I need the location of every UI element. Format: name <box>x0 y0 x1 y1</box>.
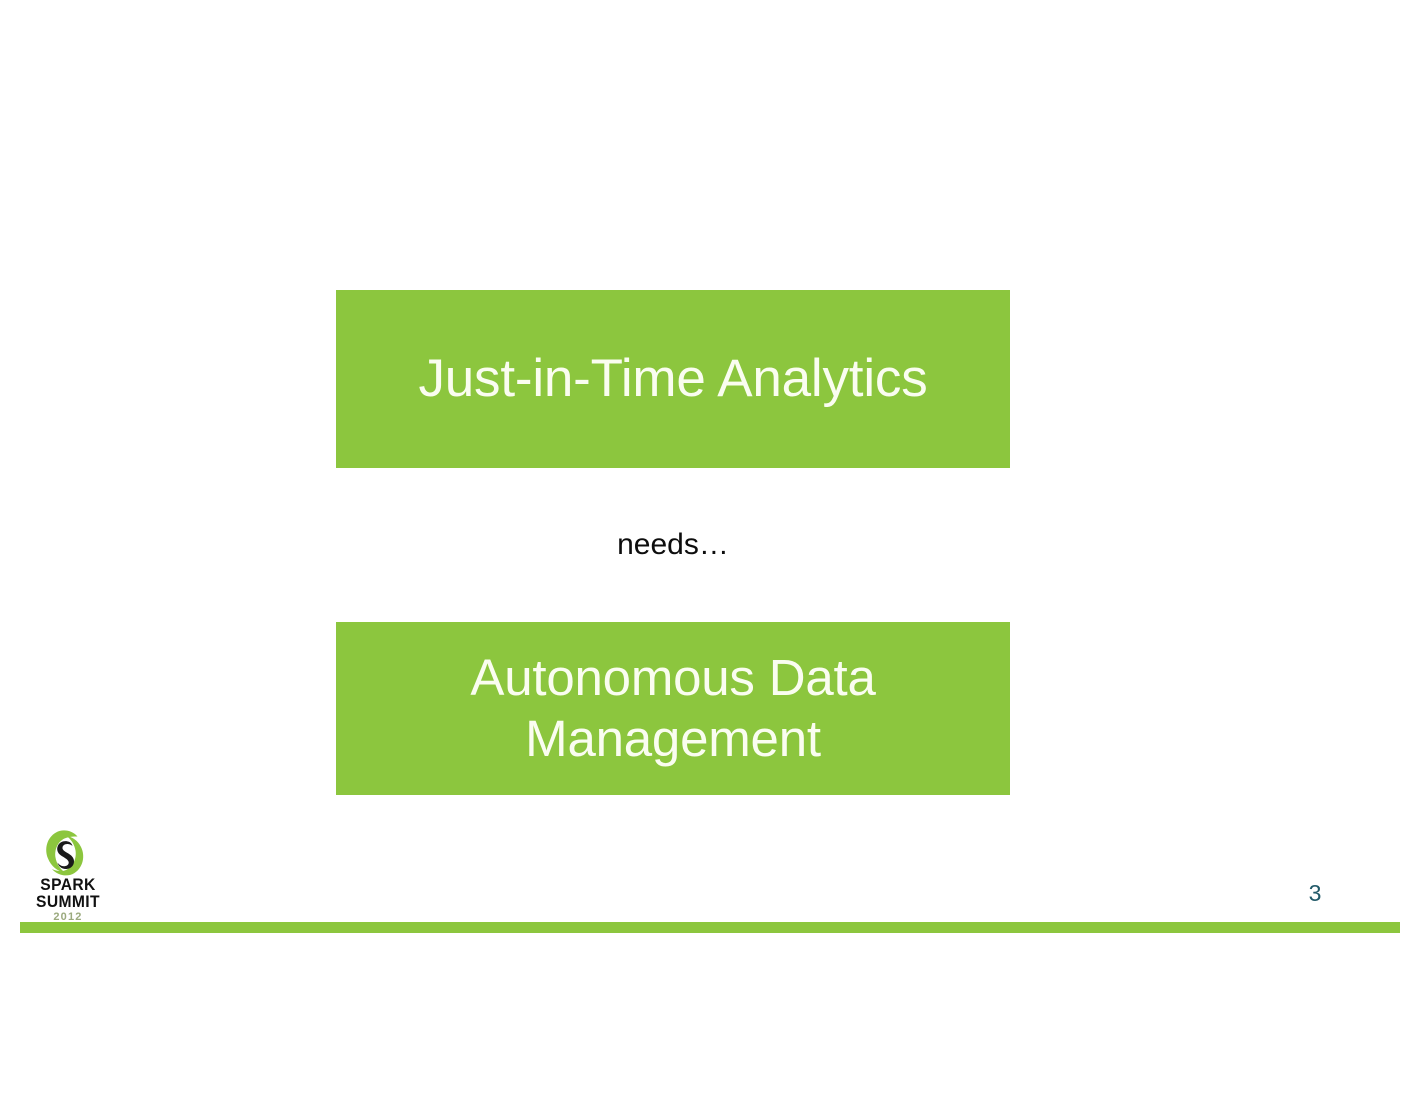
slide-canvas: Just-in-Time Analytics needs… Autonomous… <box>0 0 1422 1100</box>
spark-summit-wordmark: SPARK SUMMIT 2012 <box>22 876 114 923</box>
logo-line-summit: SUMMIT <box>26 893 111 910</box>
concept-box-top-label: Just-in-Time Analytics <box>418 348 927 411</box>
footer-accent-rule <box>20 922 1400 933</box>
spark-summit-logo: SPARK SUMMIT 2012 <box>22 828 114 918</box>
page-number: 3 <box>1290 880 1340 907</box>
logo-line-spark: SPARK <box>26 876 111 893</box>
connector-text-needs: needs… <box>336 527 1010 563</box>
concept-box-autonomous-data-management: Autonomous Data Management <box>336 622 1010 795</box>
concept-box-just-in-time-analytics: Just-in-Time Analytics <box>336 290 1010 468</box>
concept-box-bottom-label: Autonomous Data Management <box>470 648 875 768</box>
spark-swirl-icon <box>36 828 92 878</box>
